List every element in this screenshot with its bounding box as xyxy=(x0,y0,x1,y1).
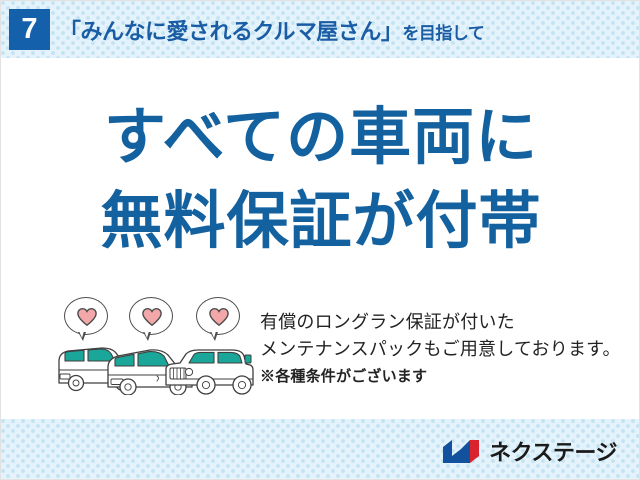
header-title-tail: を目指して xyxy=(402,24,484,43)
heart-icon xyxy=(209,308,229,326)
heart-icon xyxy=(142,308,162,326)
speech-bubble-1 xyxy=(64,297,108,335)
section-number-badge: 7 xyxy=(9,9,50,50)
car-group-icon xyxy=(56,339,256,395)
nexstage-n-logo-icon xyxy=(441,438,481,465)
speech-bubble-2 xyxy=(129,297,173,335)
header-title-quote: 「みんなに愛されるクルマ屋さん」 xyxy=(59,19,402,44)
header-band: 7 「みんなに愛されるクルマ屋さん」を目指して xyxy=(1,1,640,58)
headline-line-2: 無料保証が付帯 xyxy=(1,180,640,264)
heart-icon xyxy=(77,308,97,326)
page-title: すべての車両に 無料保証が付帯 xyxy=(1,96,640,264)
speech-bubble-3 xyxy=(196,297,240,335)
header-title: 「みんなに愛されるクルマ屋さん」を目指して xyxy=(59,14,484,46)
brand-logo: ネクステージ xyxy=(441,435,617,467)
body-line-1: 有償のロングラン保証が付いた xyxy=(260,309,640,336)
brand-name: ネクステージ xyxy=(489,435,617,467)
footer-band: ネクステージ xyxy=(1,419,640,480)
body-disclaimer: ※各種条件がございます xyxy=(260,363,640,390)
body-line-2: メンテナンスパックもご用意しております。 xyxy=(260,336,640,363)
body-copy: 有償のロングラン保証が付いた メンテナンスパックもご用意しております。 ※各種条… xyxy=(260,309,640,390)
headline-line-1: すべての車両に xyxy=(1,96,640,180)
promo-banner: 7 「みんなに愛されるクルマ屋さん」を目指して すべての車両に 無料保証が付帯 xyxy=(0,0,640,480)
cars-illustration xyxy=(56,297,256,395)
